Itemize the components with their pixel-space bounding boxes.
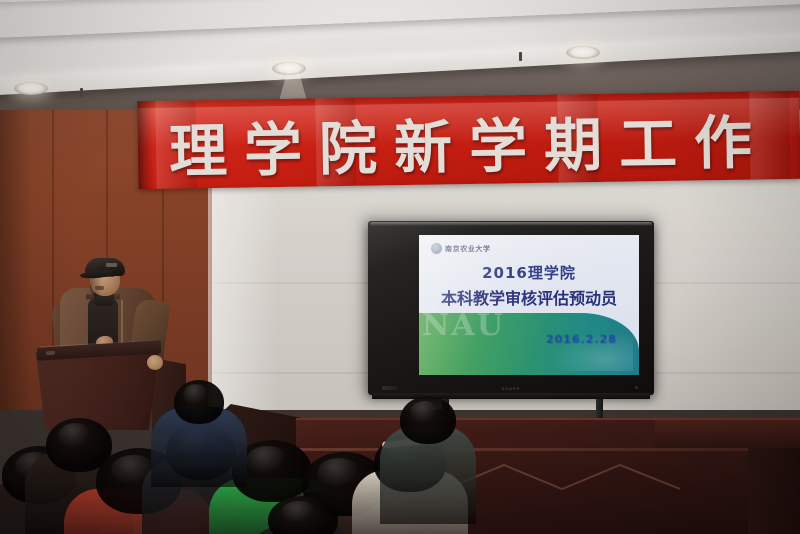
- stage-moulding: [300, 448, 796, 451]
- display-brand-label: SHARP: [502, 386, 521, 391]
- lectern-knob[interactable]: [46, 351, 55, 355]
- lectern-front[interactable]: [33, 352, 159, 430]
- nau-watermark: NAU: [422, 311, 505, 341]
- presentation-slide[interactable]: 南京农业大学 2016理学院 本科教学审核评估预动员 吴 磊 NAU 2016.…: [419, 235, 639, 375]
- ceiling-sensor: [80, 88, 83, 97]
- hair-highlight: [183, 384, 209, 405]
- bezel-highlight: [370, 222, 652, 226]
- downlight-icon: [14, 82, 48, 95]
- university-seal-icon: [431, 243, 442, 254]
- hair-highlight: [281, 501, 317, 524]
- power-led-icon: [635, 386, 638, 389]
- slide-footer-band: NAU 2016.2.28: [419, 313, 639, 375]
- slide-title-line2: 本科教学审核评估预动员: [419, 285, 639, 309]
- speaker-right-hand: [147, 355, 163, 370]
- red-banner: 理学院新学期工作: [137, 91, 800, 189]
- downlight-icon: [566, 46, 600, 59]
- hair-highlight: [410, 401, 439, 424]
- banner-text: 理学院新学期工作: [137, 93, 800, 191]
- slide-title-line1: 2016理学院: [419, 262, 639, 283]
- cap-logo: [106, 263, 117, 267]
- slide-date: 2016.2.28: [546, 333, 617, 346]
- hall-photo-scene: 理学院新学期工作 南京农业大学 2016理学院 本科教学审核评估预动员 吴 磊 …: [0, 0, 800, 534]
- speaker-mouth: [95, 286, 104, 290]
- display-control-buttons[interactable]: [382, 386, 398, 390]
- ceiling-sensor: [519, 52, 522, 61]
- flat-panel-display[interactable]: 南京农业大学 2016理学院 本科教学审核评估预动员 吴 磊 NAU 2016.…: [368, 221, 654, 395]
- university-logo: 南京农业大学: [431, 243, 491, 254]
- university-name: 南京农业大学: [445, 244, 491, 254]
- bench-back: [655, 420, 800, 448]
- hair-highlight: [317, 458, 361, 489]
- hair-highlight: [246, 446, 288, 476]
